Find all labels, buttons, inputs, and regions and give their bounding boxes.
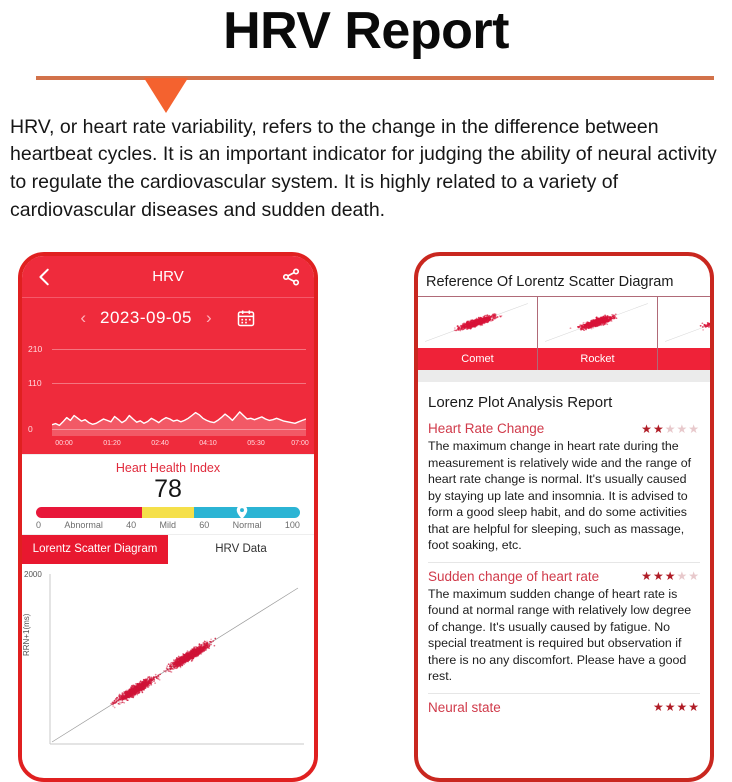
tab-hrv-data[interactable]: HRV Data bbox=[168, 535, 314, 564]
hrv-line-chart: 210 110 0 bbox=[22, 338, 314, 440]
section-text: The maximum sudden change of heart rate … bbox=[426, 586, 702, 691]
x-tick-2: 02:40 bbox=[151, 440, 169, 447]
x-tick-0: 00:00 bbox=[55, 440, 73, 447]
app-title: HRV bbox=[56, 268, 280, 285]
section-name: Sudden change of heart rate bbox=[428, 569, 599, 584]
section-divider bbox=[428, 562, 700, 563]
y-tick-110: 110 bbox=[28, 378, 42, 388]
gauge-marker-pin bbox=[236, 505, 247, 519]
prev-date-button[interactable]: ‹ bbox=[80, 308, 86, 328]
status-badge: ★★★★★ bbox=[641, 422, 700, 436]
analysis-report: Lorenz Plot Analysis Report Heart Rate C… bbox=[418, 382, 710, 717]
reference-card-comet[interactable]: Comet bbox=[418, 297, 538, 370]
heart-health-index-panel: Heart Health Index 78 0 Abnormal bbox=[22, 454, 314, 534]
reference-title: Reference Of Lorentz Scatter Diagram bbox=[418, 256, 710, 296]
phone-screenshot-left: HRV ‹ 2023-09-05 › bbox=[18, 252, 318, 782]
x-tick-4: 05:30 bbox=[247, 440, 265, 447]
gauge-label-40: 40 bbox=[126, 520, 136, 530]
scatter-points bbox=[48, 574, 306, 752]
status-badge: ★★★★ bbox=[653, 700, 700, 714]
x-tick-5: 07:00 bbox=[291, 440, 309, 447]
date-navigator: ‹ 2023-09-05 › bbox=[22, 298, 314, 338]
intro-paragraph: HRV, or heart rate variability, refers t… bbox=[0, 108, 732, 225]
divider-arrow-icon bbox=[144, 78, 188, 113]
calendar-icon[interactable] bbox=[236, 308, 256, 328]
title-divider bbox=[0, 68, 732, 108]
hrv-report-page: HRV Report HRV, or heart rate variabilit… bbox=[0, 0, 732, 782]
y-tick-0: 0 bbox=[28, 424, 33, 434]
report-section-sudden-change: Sudden change of heart rate ★★★★★ The ma… bbox=[426, 569, 702, 694]
gauge-label-abnormal: Abnormal bbox=[64, 520, 103, 530]
gauge-labels: 0 Abnormal 40 Mild 60 Normal 100 bbox=[22, 518, 314, 530]
chart-tabs: Lorentz Scatter Diagram HRV Data bbox=[22, 534, 314, 564]
gauge-label-mild: Mild bbox=[159, 520, 176, 530]
status-badge: ★★★★★ bbox=[641, 569, 700, 583]
hrv-x-axis: 00:00 01:20 02:40 04:10 05:30 07:00 bbox=[22, 440, 314, 454]
heart-health-index-title: Heart Health Index bbox=[22, 461, 314, 475]
gauge-label-normal: Normal bbox=[233, 520, 262, 530]
app-header: HRV bbox=[22, 256, 314, 298]
next-date-button[interactable]: › bbox=[206, 308, 212, 328]
heart-health-index-value: 78 bbox=[22, 475, 314, 504]
section-name: Heart Rate Change bbox=[428, 421, 544, 436]
current-date: 2023-09-05 bbox=[100, 308, 192, 328]
reference-cards: Comet Rocket bbox=[418, 296, 710, 370]
hrv-line-series bbox=[52, 344, 306, 436]
page-title: HRV Report bbox=[0, 0, 732, 62]
health-gauge bbox=[22, 504, 314, 518]
divider-line bbox=[36, 76, 714, 80]
chevron-left-icon[interactable] bbox=[34, 266, 56, 288]
gauge-label-60: 60 bbox=[199, 520, 209, 530]
report-section-heart-rate-change: Heart Rate Change ★★★★★ The maximum chan… bbox=[426, 421, 702, 563]
section-text: The maximum change in heart rate during … bbox=[426, 438, 702, 560]
partial-thumbnail bbox=[658, 297, 710, 348]
reference-card-label-comet: Comet bbox=[418, 348, 537, 370]
scatter-y-axis-label: RRN+1(ms) bbox=[22, 613, 31, 655]
lorentz-scatter-plot: 2000 RRN+1(ms) bbox=[22, 564, 314, 764]
x-tick-3: 04:10 bbox=[199, 440, 217, 447]
screenshots-row: HRV ‹ 2023-09-05 › bbox=[0, 252, 732, 782]
scatter-y-top-tick: 2000 bbox=[24, 570, 42, 579]
section-separator bbox=[418, 370, 710, 382]
reference-card-rocket[interactable]: Rocket bbox=[538, 297, 658, 370]
gauge-label-100: 100 bbox=[285, 520, 300, 530]
reference-card-label-rocket: Rocket bbox=[538, 348, 657, 370]
gauge-segment-mild bbox=[142, 507, 195, 518]
x-tick-1: 01:20 bbox=[103, 440, 121, 447]
share-icon[interactable] bbox=[280, 266, 302, 288]
report-title: Lorenz Plot Analysis Report bbox=[428, 394, 702, 411]
section-name: Neural state bbox=[428, 700, 501, 715]
gauge-label-0: 0 bbox=[36, 520, 41, 530]
phone-screenshot-right: Reference Of Lorentz Scatter Diagram Com… bbox=[414, 252, 714, 782]
rocket-thumbnail bbox=[538, 297, 657, 348]
y-tick-210: 210 bbox=[28, 344, 42, 354]
section-divider bbox=[428, 693, 700, 694]
gauge-segment-abnormal bbox=[36, 507, 142, 518]
tab-lorentz-scatter-diagram[interactable]: Lorentz Scatter Diagram bbox=[22, 535, 168, 564]
report-section-neural-state: Neural state ★★★★ bbox=[426, 700, 702, 717]
reference-card-partial[interactable]: S bbox=[658, 297, 710, 370]
comet-thumbnail bbox=[418, 297, 537, 348]
reference-card-label-partial: S bbox=[658, 348, 710, 370]
